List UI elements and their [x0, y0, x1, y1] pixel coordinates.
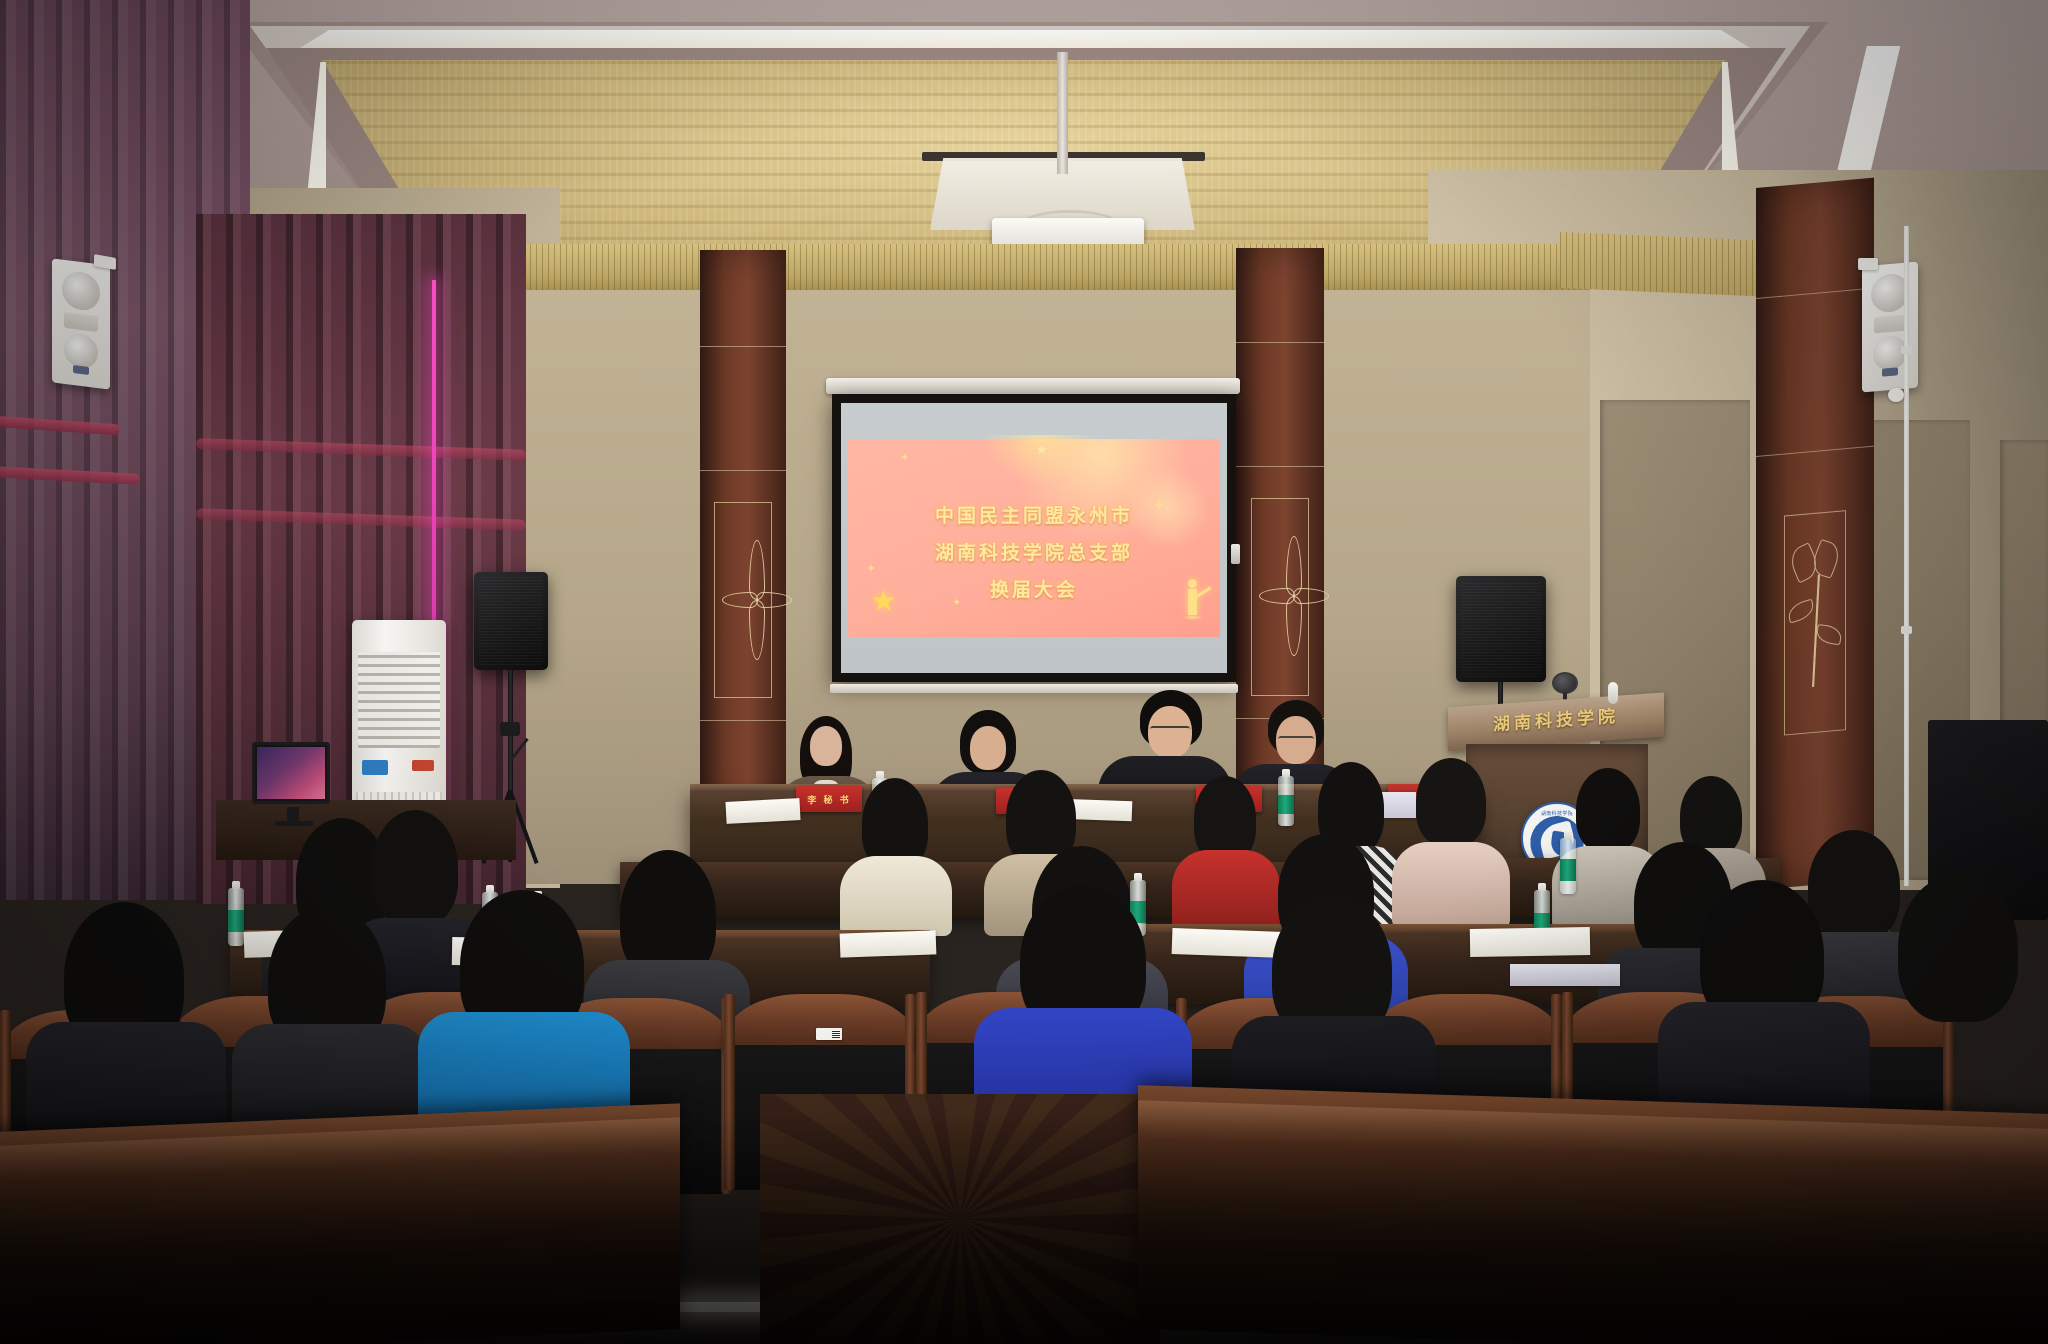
- emblem-star-icon: ★: [1036, 443, 1048, 458]
- wall-speaker-left: [52, 258, 110, 389]
- document-paper: [725, 798, 800, 824]
- wall-conduit: [1904, 226, 1909, 886]
- wall-speaker-right: [1862, 262, 1918, 393]
- screen-surface: ★ ✦ ✦ ✦ 中国民主同盟永州市 湖南科技学院总支部 换届大会 ★ ✦: [841, 403, 1227, 673]
- water-bottle: [1278, 776, 1294, 826]
- air-conditioner: [352, 620, 446, 826]
- cove-light-top: [300, 30, 1750, 48]
- speaker-stand-knob-left: [500, 722, 520, 736]
- slide-sparkle-icon: ✦: [952, 596, 961, 609]
- right-pilaster: [1756, 178, 1874, 890]
- foreground-table-left: [0, 1103, 680, 1344]
- eyeglasses-icon: [1278, 736, 1314, 745]
- plant-engraving-icon: [1786, 536, 1846, 701]
- clover-flower-icon: [722, 540, 792, 660]
- wall-spotlight: [1552, 672, 1582, 698]
- projection-screen[interactable]: ★ ✦ ✦ ✦ 中国民主同盟永州市 湖南科技学院总支部 换届大会 ★ ✦: [832, 394, 1236, 682]
- slide-big-star-icon: ★: [870, 584, 897, 619]
- slide-emblem-glow: ★: [981, 435, 1101, 485]
- foreground-table-right: [1138, 1085, 2048, 1344]
- ac-vent-grill: [358, 652, 440, 748]
- pa-speaker-right: [1456, 576, 1546, 682]
- bamboo-trim-front: [470, 244, 1590, 290]
- desktop-monitor[interactable]: [252, 742, 330, 804]
- conference-hall-photo: ★ ✦ ✦ ✦ 中国民主同盟永州市 湖南科技学院总支部 换届大会 ★ ✦: [0, 0, 2048, 1344]
- monitor-screen: [257, 747, 325, 799]
- conduit-fitting: [1888, 388, 1904, 402]
- podium-microphone: [1608, 682, 1618, 704]
- ac-brand-label: [412, 760, 434, 771]
- speaker-bracket-right: [1858, 258, 1878, 270]
- projector-mount-pole: [1057, 52, 1068, 174]
- document-booklet: [1510, 964, 1620, 986]
- slide-sparkle-icon: ✦: [900, 451, 909, 464]
- slide-line-1: 中国民主同盟永州市: [848, 498, 1220, 535]
- eyeglasses-icon: [1150, 726, 1190, 735]
- water-bottle: [228, 888, 244, 946]
- spotlight-head-icon: [1552, 672, 1578, 694]
- slide-line-3: 换届大会: [848, 572, 1220, 609]
- nameplate: 李 秘 书: [796, 786, 862, 812]
- slide-figure-icon: [1180, 579, 1206, 627]
- slide-title-block: 中国民主同盟永州市 湖南科技学院总支部 换届大会: [848, 498, 1220, 609]
- clover-flower-icon: [1259, 536, 1329, 656]
- water-bottle: [1560, 838, 1576, 894]
- document-paper: [1172, 928, 1285, 958]
- pa-speaker-left: [474, 572, 548, 670]
- document-paper: [840, 930, 937, 957]
- ac-energy-label: [362, 760, 388, 775]
- presentation-slide: ★ ✦ ✦ ✦ 中国民主同盟永州市 湖南科技学院总支部 换届大会 ★ ✦: [848, 439, 1220, 637]
- carpet-aisle: [760, 1094, 1160, 1344]
- slide-line-2: 湖南科技学院总支部: [848, 535, 1220, 572]
- screen-pull-handle[interactable]: [1231, 544, 1240, 564]
- projection-screen-housing: [826, 378, 1240, 394]
- document-paper: [1470, 927, 1590, 957]
